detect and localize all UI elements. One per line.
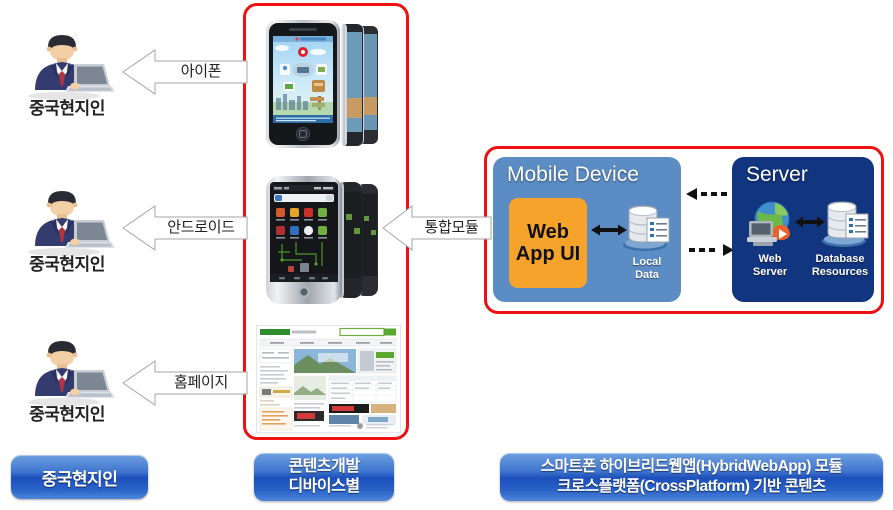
web-server-line2: Server [753, 266, 787, 278]
mobile-to-server-dotted-arrow [686, 243, 734, 262]
channel-arrow-iphone: 아이폰 [122, 49, 248, 95]
channel-arrow-homepage-label: 홈페이지 [155, 360, 247, 406]
actor-2-label: 중국현지인 [6, 250, 128, 275]
website-screenshot [256, 325, 401, 438]
legend-actor-label: 중국현지인 [42, 465, 118, 490]
actor-1: 중국현지인 [12, 34, 122, 130]
module-arrow-label: 통합모듈 [412, 205, 491, 251]
module-arrow: 통합모듈 [382, 205, 492, 251]
legend-devices-line2: 디바이스별 [288, 477, 359, 497]
server-to-mobile-dotted-arrow [686, 187, 734, 206]
legend-platform-button[interactable]: 스마트폰 하이브리드웹앱(HybridWebApp) 모듈 크로스플랫폼(Cro… [500, 453, 883, 501]
legend-platform-line2: 크로스플랫폼(CrossPlatform) 기반 콘텐츠 [557, 477, 826, 497]
legend-platform-line1: 스마트폰 하이브리드웹앱(HybridWebApp) 모듈 [541, 457, 842, 477]
businessman-laptop-icon [12, 340, 122, 406]
actor-3: 중국현지인 [12, 340, 122, 436]
server-panel: Server Web Server [732, 157, 874, 302]
web-app-ui-block: Web App UI [509, 198, 587, 288]
android-mockup [258, 168, 394, 315]
channel-arrow-homepage: 홈페이지 [122, 360, 248, 406]
database-line1: Database [816, 253, 865, 265]
channel-arrow-android-label: 안드로이드 [155, 205, 247, 251]
local-data-line1: Local [633, 256, 662, 268]
server-title: Server [746, 163, 808, 187]
web-server-line1: Web [758, 253, 781, 265]
database-resources-caption: Database Resources [807, 253, 873, 280]
iphone-mockup [258, 12, 394, 159]
database-line2: Resources [812, 266, 868, 278]
legend-devices-line1: 콘텐츠개발 [288, 457, 359, 477]
local-data-database-icon [621, 201, 673, 256]
web-app-ui-line2: App UI [516, 243, 580, 265]
web-server-caption: Web Server [737, 253, 803, 280]
database-resources-icon [820, 197, 872, 252]
local-data-line2: Data [635, 269, 659, 281]
channel-arrow-android: 안드로이드 [122, 205, 248, 251]
mobile-device-panel: Mobile Device Web App UI Local Dat [493, 157, 681, 302]
legend-devices-button[interactable]: 콘텐츠개발 디바이스별 [254, 453, 394, 501]
actor-1-label: 중국현지인 [6, 94, 128, 119]
legend-actor-button[interactable]: 중국현지인 [11, 455, 148, 499]
actor-2: 중국현지인 [12, 190, 122, 286]
actor-3-label: 중국현지인 [6, 400, 128, 425]
businessman-laptop-icon [12, 190, 122, 256]
web-app-ui-line1: Web [527, 221, 569, 243]
businessman-laptop-icon [12, 34, 122, 100]
web-server-icon [745, 197, 795, 254]
mobile-device-title: Mobile Device [507, 163, 639, 187]
channel-arrow-iphone-label: 아이폰 [155, 49, 247, 95]
local-data-caption: Local Data [615, 256, 679, 283]
